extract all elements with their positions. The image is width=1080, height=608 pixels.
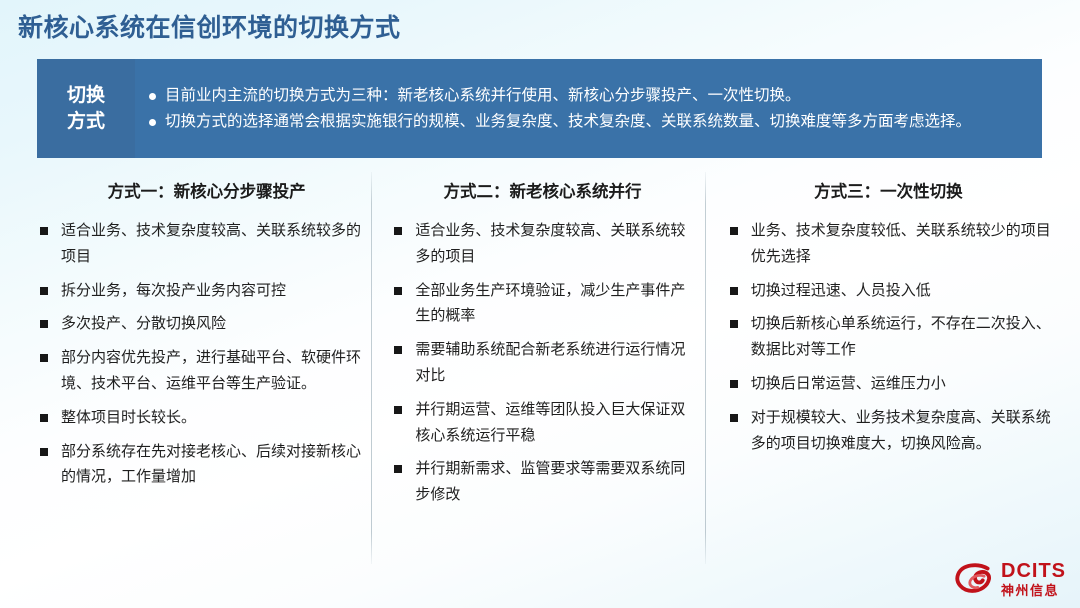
bullet-square-icon	[730, 414, 738, 422]
list-item-text: 多次投产、分散切换风险	[61, 315, 226, 332]
list-item-text: 需要辅助系统配合新老系统进行运行情况对比	[415, 341, 685, 384]
list-item-text: 切换后新核心单系统运行，不存在二次投入、数据比对等工作	[751, 315, 1051, 358]
column-bullet-list: 适合业务、技术复杂度较高、关联系统较多的项目 拆分业务，每次投产业务内容可控 多…	[38, 218, 361, 490]
bullet-square-icon	[40, 320, 48, 328]
column-method-two: 方式二：新老核心系统并行 适合业务、技术复杂度较高、关联系统较多的项目 全部业务…	[372, 172, 704, 564]
list-item-text: 全部业务生产环境验证，减少生产事件产生的概率	[415, 282, 685, 325]
list-item: 切换过程迅速、人员投入低	[728, 278, 1055, 304]
banner-label-line2: 方式	[67, 109, 105, 135]
company-logo: DCITS 神州信息	[954, 558, 1066, 600]
logo-cn-text: 神州信息	[1001, 584, 1066, 597]
banner-bullet-text: 切换方式的选择通常会根据实施银行的规模、业务复杂度、技术复杂度、关联系统数量、切…	[165, 110, 1024, 134]
banner-body: 目前业内主流的切换方式为三种：新老核心系统并行使用、新核心分步骤投产、一次性切换…	[135, 59, 1042, 158]
list-item: 并行期运营、运维等团队投入巨大保证双核心系统运行平稳	[392, 397, 692, 449]
logo-text: DCITS 神州信息	[1001, 561, 1066, 597]
list-item-text: 切换后日常运营、运维压力小	[751, 375, 946, 392]
list-item: 拆分业务，每次投产业务内容可控	[38, 278, 361, 304]
bullet-square-icon	[394, 287, 402, 295]
bullet-square-icon	[40, 227, 48, 235]
list-item: 适合业务、技术复杂度较高、关联系统较多的项目	[38, 218, 361, 270]
list-item: 需要辅助系统配合新老系统进行运行情况对比	[392, 337, 692, 389]
bullet-square-icon	[40, 287, 48, 295]
bullet-square-icon	[40, 414, 48, 422]
bullet-square-icon	[394, 406, 402, 414]
column-method-three: 方式三：一次性切换 业务、技术复杂度较低、关联系统较少的项目优先选择 切换过程迅…	[706, 172, 1065, 564]
list-item-text: 切换过程迅速、人员投入低	[751, 282, 931, 299]
logo-en-text: DCITS	[1001, 561, 1066, 581]
list-item: 整体项目时长较长。	[38, 405, 361, 431]
list-item: 多次投产、分散切换风险	[38, 311, 361, 337]
bullet-square-icon	[40, 448, 48, 456]
list-item-text: 对于规模较大、业务技术复杂度高、关联系统多的项目切换难度大，切换风险高。	[751, 409, 1051, 452]
bullet-square-icon	[730, 287, 738, 295]
column-heading: 方式一：新核心分步骤投产	[38, 178, 361, 202]
list-item: 部分内容优先投产，进行基础平台、软硬件环境、技术平台、运维平台等生产验证。	[38, 345, 361, 397]
slide-canvas: 新核心系统在信创环境的切换方式 切换 方式 目前业内主流的切换方式为三种：新老核…	[0, 0, 1080, 608]
column-bullet-list: 适合业务、技术复杂度较高、关联系统较多的项目 全部业务生产环境验证，减少生产事件…	[392, 218, 692, 508]
bullet-square-icon	[730, 227, 738, 235]
list-item-text: 适合业务、技术复杂度较高、关联系统较多的项目	[415, 222, 685, 265]
bullet-dot-icon	[149, 119, 156, 126]
banner-label: 切换 方式	[37, 59, 135, 158]
page-title: 新核心系统在信创环境的切换方式	[18, 8, 401, 44]
dcits-swirl-icon	[954, 562, 996, 596]
banner-bullet: 目前业内主流的切换方式为三种：新老核心系统并行使用、新核心分步骤投产、一次性切换…	[149, 84, 1024, 108]
bullet-square-icon	[394, 227, 402, 235]
list-item: 切换后日常运营、运维压力小	[728, 371, 1055, 397]
banner-bullet-text: 目前业内主流的切换方式为三种：新老核心系统并行使用、新核心分步骤投产、一次性切换…	[165, 84, 1024, 108]
column-method-one: 方式一：新核心分步骤投产 适合业务、技术复杂度较高、关联系统较多的项目 拆分业务…	[20, 172, 371, 564]
list-item: 并行期新需求、监管要求等需要双系统同步修改	[392, 456, 692, 508]
column-bullet-list: 业务、技术复杂度较低、关联系统较少的项目优先选择 切换过程迅速、人员投入低 切换…	[728, 218, 1055, 456]
list-item-text: 并行期运营、运维等团队投入巨大保证双核心系统运行平稳	[415, 401, 685, 444]
list-item: 对于规模较大、业务技术复杂度高、关联系统多的项目切换难度大，切换风险高。	[728, 405, 1055, 457]
bullet-dot-icon	[149, 93, 156, 100]
list-item-text: 拆分业务，每次投产业务内容可控	[61, 282, 286, 299]
bullet-square-icon	[394, 346, 402, 354]
list-item-text: 适合业务、技术复杂度较高、关联系统较多的项目	[61, 222, 361, 265]
bullet-square-icon	[40, 354, 48, 362]
banner-label-line1: 切换	[67, 83, 105, 109]
column-heading: 方式二：新老核心系统并行	[392, 178, 692, 202]
list-item: 部分系统存在先对接老核心、后续对接新核心的情况，工作量增加	[38, 439, 361, 491]
list-item-text: 业务、技术复杂度较低、关联系统较少的项目优先选择	[751, 222, 1051, 265]
summary-banner: 切换 方式 目前业内主流的切换方式为三种：新老核心系统并行使用、新核心分步骤投产…	[37, 59, 1042, 158]
list-item-text: 并行期新需求、监管要求等需要双系统同步修改	[415, 460, 685, 503]
list-item-text: 整体项目时长较长。	[61, 409, 196, 426]
bullet-square-icon	[730, 320, 738, 328]
banner-bullet: 切换方式的选择通常会根据实施银行的规模、业务复杂度、技术复杂度、关联系统数量、切…	[149, 110, 1024, 134]
column-heading: 方式三：一次性切换	[728, 178, 1055, 202]
list-item: 全部业务生产环境验证，减少生产事件产生的概率	[392, 278, 692, 330]
bullet-square-icon	[394, 465, 402, 473]
comparison-columns: 方式一：新核心分步骤投产 适合业务、技术复杂度较高、关联系统较多的项目 拆分业务…	[20, 172, 1065, 564]
list-item: 切换后新核心单系统运行，不存在二次投入、数据比对等工作	[728, 311, 1055, 363]
list-item-text: 部分内容优先投产，进行基础平台、软硬件环境、技术平台、运维平台等生产验证。	[61, 349, 361, 392]
list-item: 业务、技术复杂度较低、关联系统较少的项目优先选择	[728, 218, 1055, 270]
list-item: 适合业务、技术复杂度较高、关联系统较多的项目	[392, 218, 692, 270]
bullet-square-icon	[730, 380, 738, 388]
list-item-text: 部分系统存在先对接老核心、后续对接新核心的情况，工作量增加	[61, 443, 361, 486]
